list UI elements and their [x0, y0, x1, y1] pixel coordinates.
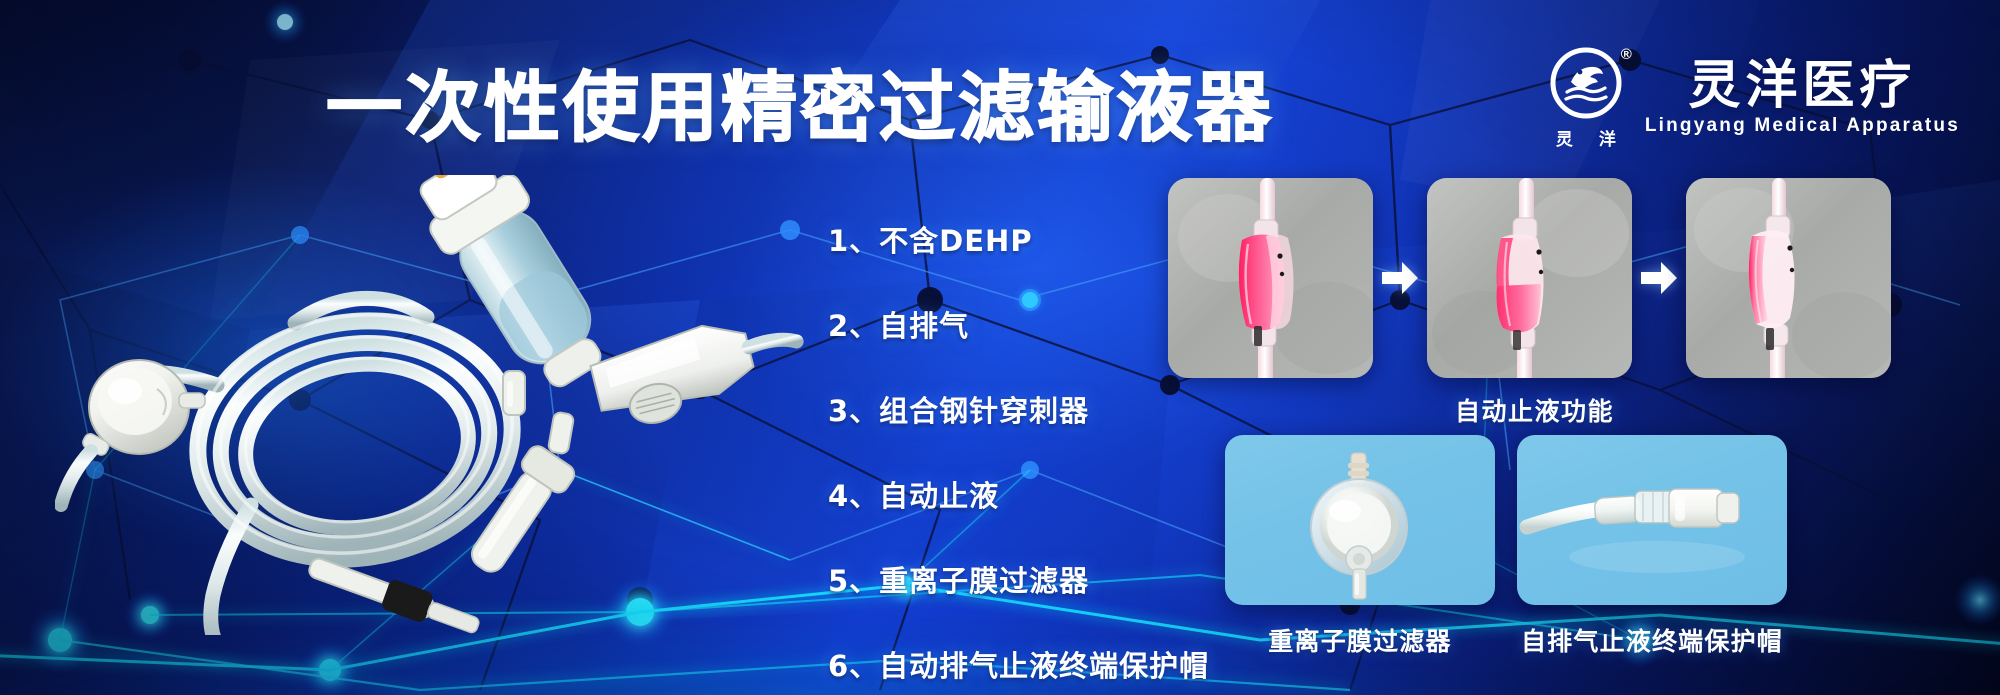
card-terminal-cap — [1517, 435, 1787, 605]
demo-frame-2 — [1427, 178, 1632, 378]
bottom-card-row — [1225, 435, 1787, 605]
logo-emblem-char-left: 灵 — [1556, 125, 1573, 150]
logo-name-en: Lingyang Medical Apparatus — [1645, 115, 1960, 137]
registered-trademark-icon: ® — [1621, 47, 1632, 62]
arrow-separator-1 — [1373, 260, 1427, 296]
demo-photo-strip — [1168, 178, 1891, 378]
logo-name-cn: 灵洋医疗 — [1688, 59, 1916, 114]
feature-list: 1、不含DEHP 2、自排气 3、组合钢针穿刺器 4、自动止液 5、重离子膜过滤… — [828, 218, 1209, 685]
tube-clamp-2 — [548, 412, 575, 455]
roller-clamp — [588, 305, 808, 435]
bottom-caption-row: 重离子膜过滤器 自排气止液终端保护帽 — [1225, 622, 1787, 658]
feature-item-4: 4、自动止液 — [828, 473, 1209, 515]
needle-connector — [305, 551, 483, 635]
caption-terminal-cap: 自排气止液终端保护帽 — [1517, 622, 1787, 658]
demo-frame-3 — [1686, 178, 1891, 378]
page-title: 一次性使用精密过滤输液器 — [326, 46, 1274, 156]
feature-item-1: 1、不含DEHP — [828, 218, 1209, 260]
logo-emblem-icon: ® — [1549, 46, 1623, 120]
logo-emblem-char-right: 洋 — [1599, 125, 1616, 150]
logo-emblem-chars: 灵 洋 — [1556, 125, 1616, 150]
product-banner: 一次性使用精密过滤输液器 ® 灵 洋 灵洋医疗 Lingyang Medical — [0, 0, 2000, 695]
brand-logo: ® 灵 洋 灵洋医疗 Lingyang Medical Apparatus — [1549, 46, 1960, 150]
arrow-separator-2 — [1632, 260, 1686, 296]
feature-item-3: 3、组合钢针穿刺器 — [828, 388, 1209, 430]
feature-item-5: 5、重离子膜过滤器 — [828, 558, 1209, 600]
card-ion-filter — [1225, 435, 1495, 605]
logo-wordmark: 灵洋医疗 Lingyang Medical Apparatus — [1645, 59, 1960, 138]
caption-ion-filter: 重离子膜过滤器 — [1225, 622, 1495, 658]
tube-clamp — [503, 371, 525, 415]
feature-item-2: 2、自排气 — [828, 303, 1209, 345]
demo-strip-caption: 自动止液功能 — [1455, 392, 1614, 428]
logo-mark: ® 灵 洋 — [1549, 46, 1623, 150]
feature-item-6: 6、自动排气止液终端保护帽 — [828, 643, 1209, 685]
product-photo-main — [55, 175, 815, 635]
